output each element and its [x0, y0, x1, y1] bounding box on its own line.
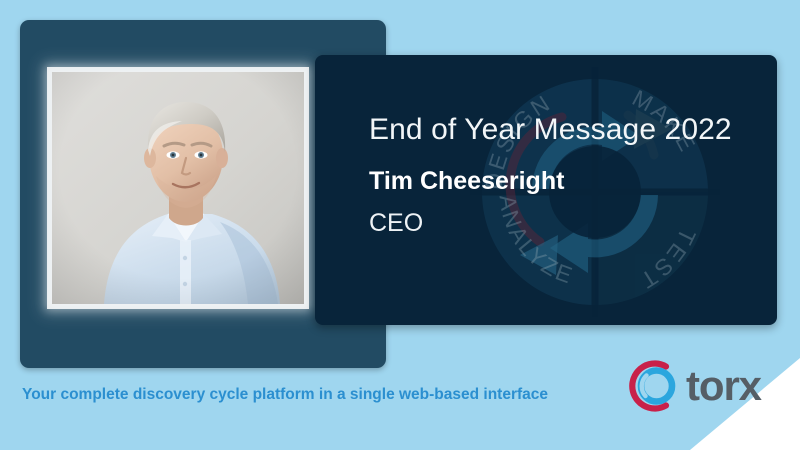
- title-card: DESIGN MAKE TEST ANALYZE End of Year Mes…: [315, 55, 777, 325]
- presenter-role: CEO: [369, 209, 732, 238]
- torx-mark-icon: [625, 358, 681, 414]
- title-text-block: End of Year Message 2022 Tim Cheeseright…: [369, 113, 732, 238]
- presenter-name: Tim Cheeseright: [369, 167, 732, 196]
- portrait-photo-image: [52, 72, 304, 304]
- presentation-slide: DESIGN MAKE TEST ANALYZE End of Year Mes…: [0, 0, 800, 450]
- portrait-photo: [52, 72, 304, 304]
- torx-wordmark: torx: [686, 365, 761, 407]
- torx-logo: torx: [625, 358, 761, 414]
- page-title: End of Year Message 2022: [369, 113, 732, 148]
- tagline: Your complete discovery cycle platform i…: [22, 386, 548, 404]
